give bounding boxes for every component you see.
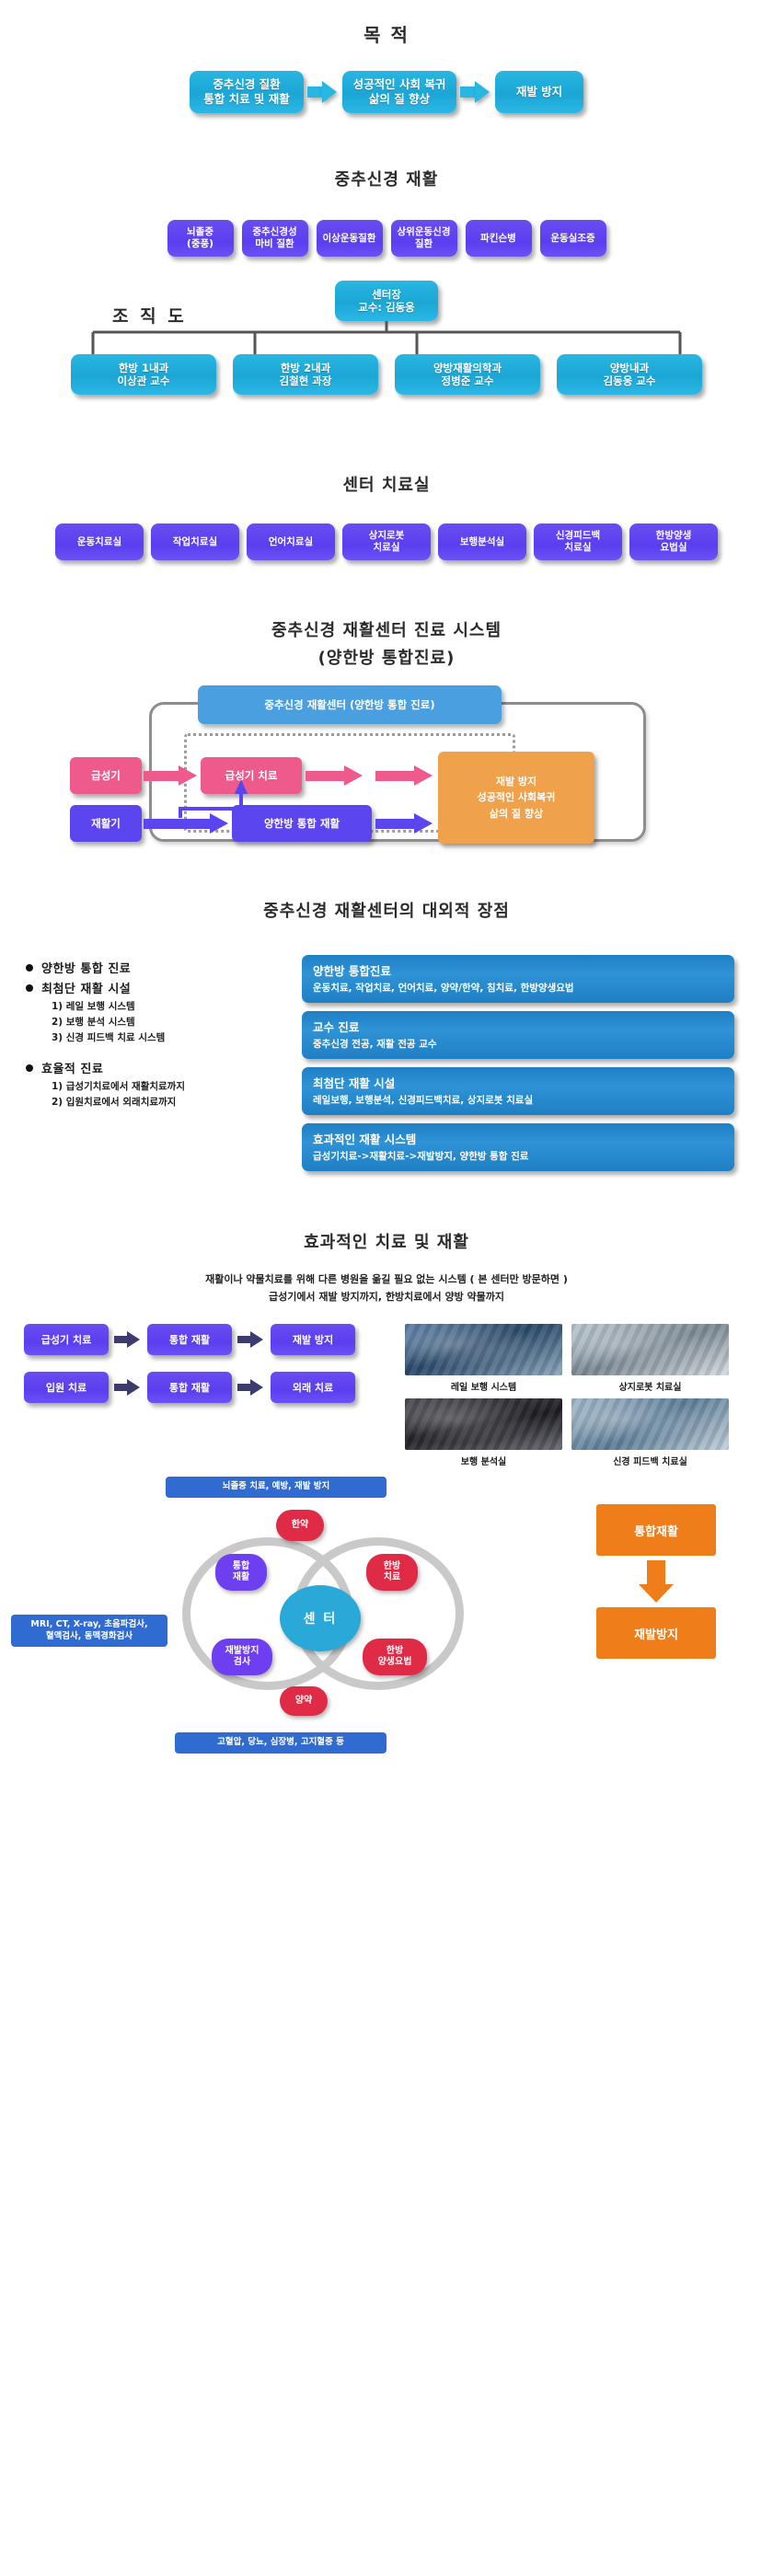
arrow-down-icon xyxy=(596,1556,716,1607)
rehab-item: 뇌졸중 (중풍) xyxy=(167,220,234,257)
purpose-box-3-line1: 재발 방지 xyxy=(516,85,562,99)
rehab-item: 상위운동신경 질환 xyxy=(391,220,457,257)
org-head-line2: 교수: 김동웅 xyxy=(358,301,415,314)
arrow-right-icon xyxy=(114,1330,142,1349)
org-child-line2: 이상관 교수 xyxy=(118,374,170,387)
arrow-right-icon xyxy=(307,78,339,106)
rehab-disease-list: 뇌졸중 (중풍) 중추신경성 마비 질환 이상운동질환 상위운동신경 질환 파킨… xyxy=(0,220,773,257)
advantage-sub-item: 2) 보행 분석 시스템 xyxy=(52,1015,302,1029)
advantage-sub-item: 3) 신경 피드백 치료 시스템 xyxy=(52,1030,302,1044)
advantage-card-sub: 운동치료, 작업치료, 언어치료, 양약/한약, 침치료, 한방양생요법 xyxy=(313,981,723,995)
advantage-card-head: 양한방 통합진료 xyxy=(313,961,723,979)
system-titles: 중추신경 재활센터 진료 시스템 (양한방 통합진료) xyxy=(0,617,773,669)
venn-pill-integrated-rehab: 통합 재활 xyxy=(215,1554,267,1591)
effective-flow: 급성기 치료 통합 재활 재발 방지 입원 치료 통합 재활 외래 치료 xyxy=(24,1324,392,1467)
flow-node: 재발 방지 xyxy=(271,1324,355,1355)
venn-pill-yangyak: 양약 xyxy=(280,1686,328,1716)
room-label: 상지로봇 xyxy=(369,530,405,541)
rehab-item: 중추신경성 마비 질환 xyxy=(242,220,308,257)
photo-upper-limb-robot-room xyxy=(571,1324,729,1375)
room-label: 한방양생 xyxy=(656,530,692,541)
org-child-line1: 한방 2내과 xyxy=(281,362,330,374)
right-box-integrated-rehab: 통합재활 xyxy=(596,1504,716,1556)
room-item: 언어치료실 xyxy=(247,523,335,560)
arrow-stem xyxy=(647,1560,665,1584)
org-child-line2: 김철현 과장 xyxy=(280,374,332,387)
room-label: 신경피드백 xyxy=(556,530,600,541)
org-children-row: 한방 1내과 이상관 교수 한방 2내과 김철현 과장 양방재활의학과 정병준 … xyxy=(0,354,773,395)
effective-flow-row: 급성기 치료 통합 재활 재발 방지 xyxy=(24,1324,392,1355)
room-label: 작업치료실 xyxy=(173,536,217,548)
page-title-purpose: 목 적 xyxy=(0,20,773,47)
section-advantages: 중추신경 재활센터의 대외적 장점 양한방 통합 진료 최첨단 재활 시설 1)… xyxy=(0,856,773,1179)
advantage-card: 교수 진료 중추신경 전공, 재활 전공 교수 xyxy=(302,1011,734,1059)
section-org-chart: 조 직 도 센터장 교수: 김동웅 한방 1내과 이상관 교수 한방 2내과 김… xyxy=(0,257,773,441)
photo-gait-analysis-room xyxy=(405,1398,562,1450)
rehab-item: 운동실조증 xyxy=(540,220,606,257)
org-child-line1: 한방 1내과 xyxy=(119,362,168,374)
all-in-one-right-column: 통합재활 재발방지 xyxy=(596,1504,734,1659)
venn-pill-hanbang-chiryo: 한방 치료 xyxy=(366,1554,418,1591)
advantage-bullet-text: 양한방 통합 진료 xyxy=(41,962,131,976)
advantage-sub-item: 1) 레일 보행 시스템 xyxy=(52,999,302,1013)
effective-subtitle: 재활이나 약물치료를 위해 다른 병원을 옮길 필요 없는 시스템 ( 본 센터… xyxy=(0,1271,773,1305)
room-label-2: 치료실 xyxy=(374,542,400,553)
rehab-item-line2: 마비 질환 xyxy=(255,238,294,249)
photo-rail-gait-system xyxy=(405,1324,562,1375)
spacer xyxy=(26,1046,302,1059)
org-head-box: 센터장 교수: 김동웅 xyxy=(335,281,438,321)
rehab-item-line1: 뇌졸중 xyxy=(187,226,213,237)
section-all-in-one: 모든 치료를 한곳에서 뇌졸중 치료, 예방, 재발 방지 고혈압, 당뇨, 심… xyxy=(0,1467,773,1771)
room-item: 작업치료실 xyxy=(151,523,239,560)
room-item: 운동치료실 xyxy=(55,523,144,560)
effective-photo-grid: 레일 보행 시스템 상지로봇 치료실 보행 분석실 신경 피드백 치료실 xyxy=(405,1324,729,1467)
room-label-2: 치료실 xyxy=(565,542,592,553)
photo-caption: 보행 분석실 xyxy=(405,1454,562,1467)
bullet-dot-icon xyxy=(26,984,33,992)
photo-caption: 레일 보행 시스템 xyxy=(405,1379,562,1393)
venn-pill-hanyak: 한약 xyxy=(276,1510,324,1541)
venn-pill-hanbang-yangsaeng: 한방 양생요법 xyxy=(363,1639,427,1675)
section-purpose: 목 적 중추신경 질환 통합 치료 및 재활 성공적인 사회 복귀 삶의 질 향… xyxy=(0,0,773,113)
purpose-box-2-line2: 삶의 질 향상 xyxy=(369,92,430,106)
org-child-line2: 정병준 교수 xyxy=(442,374,494,387)
advantage-card: 효과적인 재활 시스템 급성기치료->재활치료->재발방지, 양한방 통합 진료 xyxy=(302,1123,734,1171)
org-child-box: 한방 1내과 이상관 교수 xyxy=(71,354,216,395)
purpose-box-1-line1: 중추신경 질환 xyxy=(213,77,280,91)
rehab-item-line1: 파킨슨병 xyxy=(480,233,516,245)
org-child-box: 양방내과 김동웅 교수 xyxy=(557,354,702,395)
advantages-card-list: 양한방 통합진료 운동치료, 작업치료, 언어치료, 양약/한약, 침치료, 한… xyxy=(302,955,734,1179)
room-item: 상지로봇 치료실 xyxy=(342,523,431,560)
org-child-line1: 양방내과 xyxy=(610,362,649,374)
room-item: 한방양생 요법실 xyxy=(629,523,718,560)
photo-caption: 신경 피드백 치료실 xyxy=(571,1454,729,1467)
flow-node: 급성기 치료 xyxy=(24,1324,109,1355)
flow-node: 통합 재활 xyxy=(147,1324,232,1355)
arrow-pink-icon xyxy=(375,765,433,786)
advantage-bullet: 최첨단 재활 시설 xyxy=(26,979,302,996)
page-title-effective: 효과적인 치료 및 재활 xyxy=(0,1229,773,1253)
purpose-box-1-line2: 통합 치료 및 재활 xyxy=(203,92,290,106)
photo-cell: 보행 분석실 xyxy=(405,1398,562,1467)
org-connector-lines xyxy=(0,321,773,354)
venn-label-bottom: 고혈압, 당뇨, 심장병, 고지혈증 등 xyxy=(175,1732,386,1753)
page-title-advantages: 중추신경 재활센터의 대외적 장점 xyxy=(0,898,773,922)
org-child-line2: 김동웅 교수 xyxy=(604,374,656,387)
purpose-box-1: 중추신경 질환 통합 치료 및 재활 xyxy=(190,71,304,113)
flow-node: 통합 재활 xyxy=(147,1372,232,1403)
system-outcome-l1: 재발 방지 xyxy=(496,774,536,789)
advantages-body: 양한방 통합 진료 최첨단 재활 시설 1) 레일 보행 시스템 2) 보행 분… xyxy=(0,955,773,1179)
photo-caption: 상지로봇 치료실 xyxy=(571,1379,729,1393)
advantage-card: 양한방 통합진료 운동치료, 작업치료, 언어치료, 양약/한약, 침치료, 한… xyxy=(302,955,734,1003)
rooms-list: 운동치료실 작업치료실 언어치료실 상지로봇 치료실 보행분석실 신경피드백 치… xyxy=(0,523,773,560)
system-rehab-stage: 재활기 xyxy=(70,805,142,842)
right-box-recurrence-prevention: 재발방지 xyxy=(596,1607,716,1659)
room-item: 신경피드백 치료실 xyxy=(534,523,622,560)
bullet-dot-icon xyxy=(26,964,33,972)
advantage-card-sub: 중추신경 전공, 재활 전공 교수 xyxy=(313,1037,723,1051)
venn-label-top: 뇌졸중 치료, 예방, 재발 방지 xyxy=(166,1477,386,1497)
advantage-bullet: 효율적 진료 xyxy=(26,1059,302,1076)
rehab-item: 이상운동질환 xyxy=(317,220,383,257)
arrow-pink-icon xyxy=(306,765,363,786)
arrow-right-icon xyxy=(460,78,491,106)
purpose-box-2-line1: 성공적인 사회 복귀 xyxy=(353,77,446,91)
arrow-blue-icon xyxy=(375,813,433,834)
photo-cell: 레일 보행 시스템 xyxy=(405,1324,562,1393)
flow-node: 입원 치료 xyxy=(24,1372,109,1403)
section-rehab: 중추신경 재활 뇌졸중 (중풍) 중추신경성 마비 질환 이상운동질환 상위운동… xyxy=(0,113,773,257)
advantage-card-head: 최첨단 재활 시설 xyxy=(313,1074,723,1091)
advantage-card-head: 교수 진료 xyxy=(313,1018,723,1035)
room-label: 운동치료실 xyxy=(77,536,121,548)
care-system-diagram: 중추신경 재활센터 (양한방 통합 진료) 급성기 급성기 치료 재활기 양한방… xyxy=(64,685,709,856)
venn-label-left: MRI, CT, X-ray, 초음파검사, 혈액검사, 동맥경화검사 xyxy=(11,1615,167,1647)
advantage-bullet-text: 효율적 진료 xyxy=(41,1063,103,1076)
room-item: 보행분석실 xyxy=(438,523,526,560)
section-care-system: 중추신경 재활센터 진료 시스템 (양한방 통합진료) 중추신경 재활센터 (양… xyxy=(0,560,773,856)
advantage-bullet-text: 최첨단 재활 시설 xyxy=(41,983,131,996)
photo-cell: 상지로봇 치료실 xyxy=(571,1324,729,1393)
bullet-dot-icon xyxy=(26,1064,33,1072)
venn-diagram: 뇌졸중 치료, 예방, 재발 방지 고혈압, 당뇨, 심장병, 고지혈증 등 M… xyxy=(140,1477,526,1753)
system-feedback-arrow-icon xyxy=(173,777,256,822)
arrow-right-icon xyxy=(237,1330,265,1349)
section-treatment-rooms: 센터 치료실 운동치료실 작업치료실 언어치료실 상지로봇 치료실 보행분석실 … xyxy=(0,441,773,560)
arrow-right-icon xyxy=(114,1378,142,1397)
system-outcome-box: 재발 방지 성공적인 사회복귀 삶의 질 향상 xyxy=(438,752,594,844)
page-title-system-l2: (양한방 통합진료) xyxy=(0,645,773,669)
advantage-card-sub: 급성기치료->재활치료->재발방지, 양한방 통합 진료 xyxy=(313,1149,723,1163)
purpose-flow: 중추신경 질환 통합 치료 및 재활 성공적인 사회 복귀 삶의 질 향상 재발… xyxy=(0,71,773,113)
flow-node: 외래 치료 xyxy=(271,1372,355,1403)
org-child-line1: 양방재활의학과 xyxy=(433,362,502,374)
rehab-item-line1: 운동실조증 xyxy=(550,233,594,245)
effective-subtitle-l1: 재활이나 약물치료를 위해 다른 병원을 옮길 필요 없는 시스템 ( 본 센터… xyxy=(0,1271,773,1289)
effective-body: 급성기 치료 통합 재활 재발 방지 입원 치료 통합 재활 외래 치료 레일 … xyxy=(0,1324,773,1467)
org-child-box: 한방 2내과 김철현 과장 xyxy=(233,354,378,395)
purpose-box-2: 성공적인 사회 복귀 삶의 질 향상 xyxy=(342,71,456,113)
system-header-box: 중추신경 재활센터 (양한방 통합 진료) xyxy=(198,685,502,724)
effective-flow-row: 입원 치료 통합 재활 외래 치료 xyxy=(24,1372,392,1403)
room-label: 언어치료실 xyxy=(269,536,313,548)
section-effective-care: 효과적인 치료 및 재활 재활이나 약물치료를 위해 다른 병원을 옮길 필요 … xyxy=(0,1179,773,1467)
advantages-bullet-list: 양한방 통합 진료 최첨단 재활 시설 1) 레일 보행 시스템 2) 보행 분… xyxy=(26,955,302,1179)
advantage-card-sub: 레일보행, 보행분석, 신경피드백치료, 상지로봇 치료실 xyxy=(313,1093,723,1107)
advantage-card: 최첨단 재활 시설 레일보행, 보행분석, 신경피드백치료, 상지로봇 치료실 xyxy=(302,1067,734,1115)
rehab-item-line1: 상위운동신경 xyxy=(398,226,451,237)
page-title-rooms: 센터 치료실 xyxy=(0,472,773,496)
advantage-sub-item: 1) 급성기치료에서 재활치료까지 xyxy=(52,1079,302,1093)
rehab-item: 파킨슨병 xyxy=(466,220,532,257)
photo-cell: 신경 피드백 치료실 xyxy=(571,1398,729,1467)
advantage-card-head: 효과적인 재활 시스템 xyxy=(313,1130,723,1147)
venn-center-node: 센 터 xyxy=(280,1585,361,1651)
rehab-item-line2: (중풍) xyxy=(187,238,213,249)
advantage-sub-item: 2) 입원치료에서 외래치료까지 xyxy=(52,1095,302,1109)
effective-subtitle-l2: 급성기에서 재발 방지까지, 한방치료에서 양방 약물까지 xyxy=(0,1289,773,1306)
system-acute-stage: 급성기 xyxy=(70,757,142,794)
photo-neurofeedback-room xyxy=(571,1398,729,1450)
advantage-bullet: 양한방 통합 진료 xyxy=(26,959,302,976)
org-head-line1: 센터장 xyxy=(372,288,401,301)
rehab-item-line2: 질환 xyxy=(415,238,433,249)
venn-pill-recurrence-exam: 재발방지 검사 xyxy=(212,1639,272,1675)
system-outcome-l2: 성공적인 사회복귀 xyxy=(478,789,556,805)
system-outcome-l3: 삶의 질 향상 xyxy=(490,806,543,822)
room-label-2: 요법실 xyxy=(661,542,687,553)
purpose-box-3: 재발 방지 xyxy=(495,71,583,113)
page-title-system-l1: 중추신경 재활센터 진료 시스템 xyxy=(0,617,773,641)
rehab-item-line1: 이상운동질환 xyxy=(323,233,376,245)
arrow-tip xyxy=(639,1584,674,1603)
org-child-box: 양방재활의학과 정병준 교수 xyxy=(395,354,540,395)
rehab-item-line1: 중추신경성 xyxy=(252,226,296,237)
page-title-rehab: 중추신경 재활 xyxy=(0,167,773,190)
room-label: 보행분석실 xyxy=(460,536,504,548)
arrow-right-icon xyxy=(237,1378,265,1397)
